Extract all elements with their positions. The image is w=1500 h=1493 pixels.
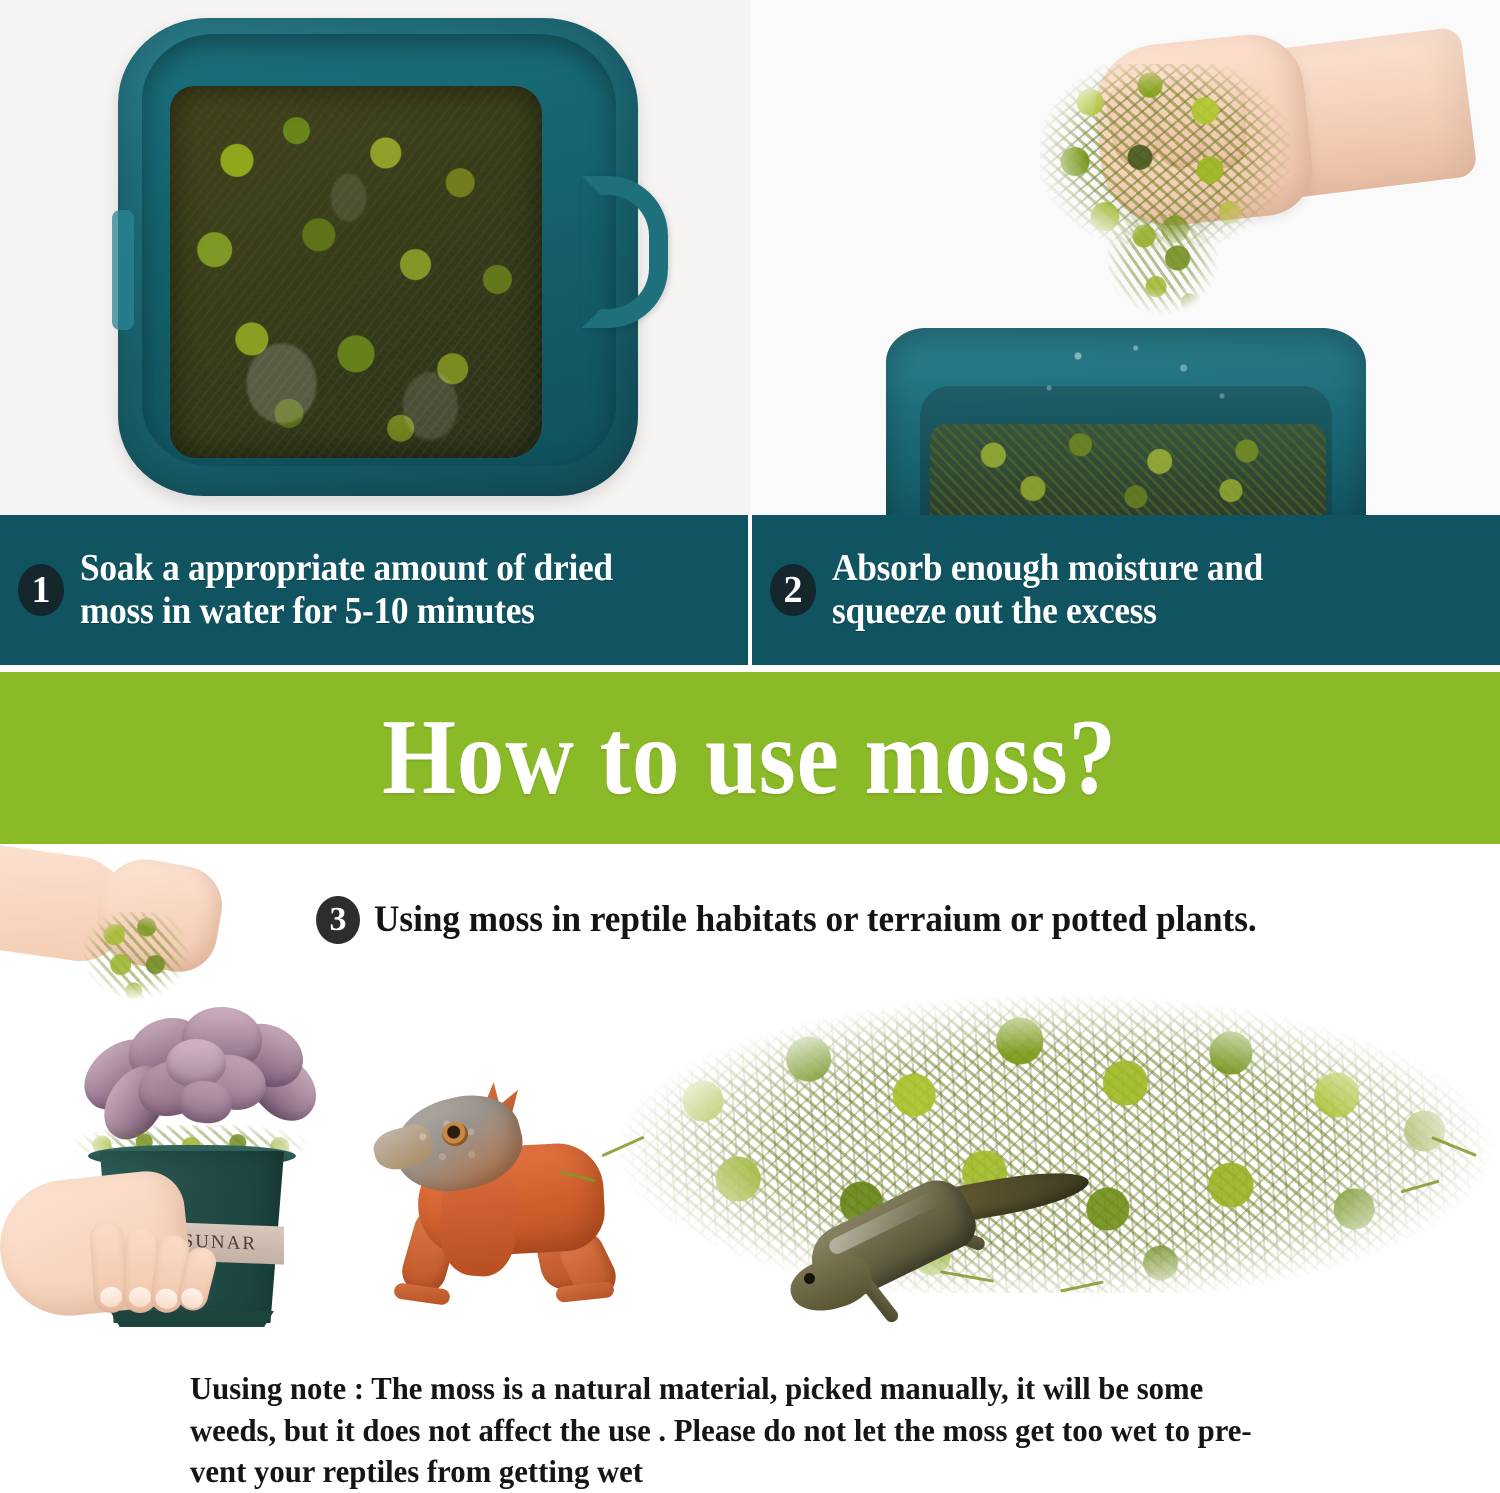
iguana-eye	[442, 1122, 468, 1146]
potted-succulent: D ❀ SUNAR	[52, 1005, 332, 1335]
hand-holding-pot	[0, 1177, 230, 1337]
fingernail	[129, 1287, 152, 1308]
basin-handle	[582, 176, 668, 328]
note-line-2: weeds, but it does not affect the use . …	[190, 1410, 1294, 1452]
newt-salamander-icon	[790, 1175, 1090, 1325]
infographic-page: 1 Soak a appropriate amount of dried mos…	[0, 0, 1500, 1477]
photo-step-1	[0, 0, 750, 515]
page-title: How to use moss?	[383, 704, 1118, 812]
teal-basin-icon	[118, 18, 638, 496]
water-drops	[886, 328, 1366, 515]
step-1-line-2: moss in water for 5-10 minutes	[80, 590, 613, 633]
step-2-line-1: Absorb enough moisture and	[832, 547, 1263, 590]
step-2-line-2: squeeze out the excess	[832, 590, 1263, 633]
caption-row: 1 Soak a appropriate amount of dried mos…	[0, 515, 1500, 665]
photo-row	[0, 0, 1500, 515]
purple-succulent-icon	[70, 993, 310, 1143]
note-line-1: Uusing note : The moss is a natural mate…	[190, 1368, 1294, 1410]
photo-step-2	[750, 0, 1500, 515]
soaking-moss	[170, 86, 542, 458]
step-1-line-1: Soak a appropriate amount of dried	[80, 547, 613, 590]
step-2-caption: 2 Absorb enough moisture and squeeze out…	[752, 515, 1500, 665]
moss-drip	[1108, 214, 1228, 324]
step-1-caption: 1 Soak a appropriate amount of dried mos…	[0, 515, 748, 665]
step-2-text: Absorb enough moisture and squeeze out t…	[832, 547, 1263, 632]
step-number-badge: 2	[770, 564, 816, 616]
basin-notch	[112, 210, 134, 330]
usage-note: Uusing note : The moss is a natural mate…	[190, 1368, 1294, 1493]
moss-tuft	[84, 912, 192, 1006]
headline-banner: How to use moss?	[0, 672, 1500, 844]
newt-eye	[804, 1273, 815, 1284]
step-1-text: Soak a appropriate amount of dried moss …	[80, 547, 613, 632]
fingernail	[99, 1286, 122, 1307]
iguana-foot	[393, 1282, 451, 1306]
fingernail	[179, 1286, 205, 1311]
fingernail	[154, 1287, 179, 1310]
hand-dropping-moss-icon	[0, 850, 260, 1010]
usage-scene: D ❀ SUNAR	[0, 845, 1500, 1355]
hand-squeezing-moss	[1050, 18, 1460, 278]
teal-basin-lower-icon	[886, 328, 1366, 515]
step-number-badge: 1	[18, 564, 64, 616]
newt-head	[785, 1249, 878, 1320]
note-line-3: vent your reptiles from getting wet	[190, 1451, 1294, 1493]
